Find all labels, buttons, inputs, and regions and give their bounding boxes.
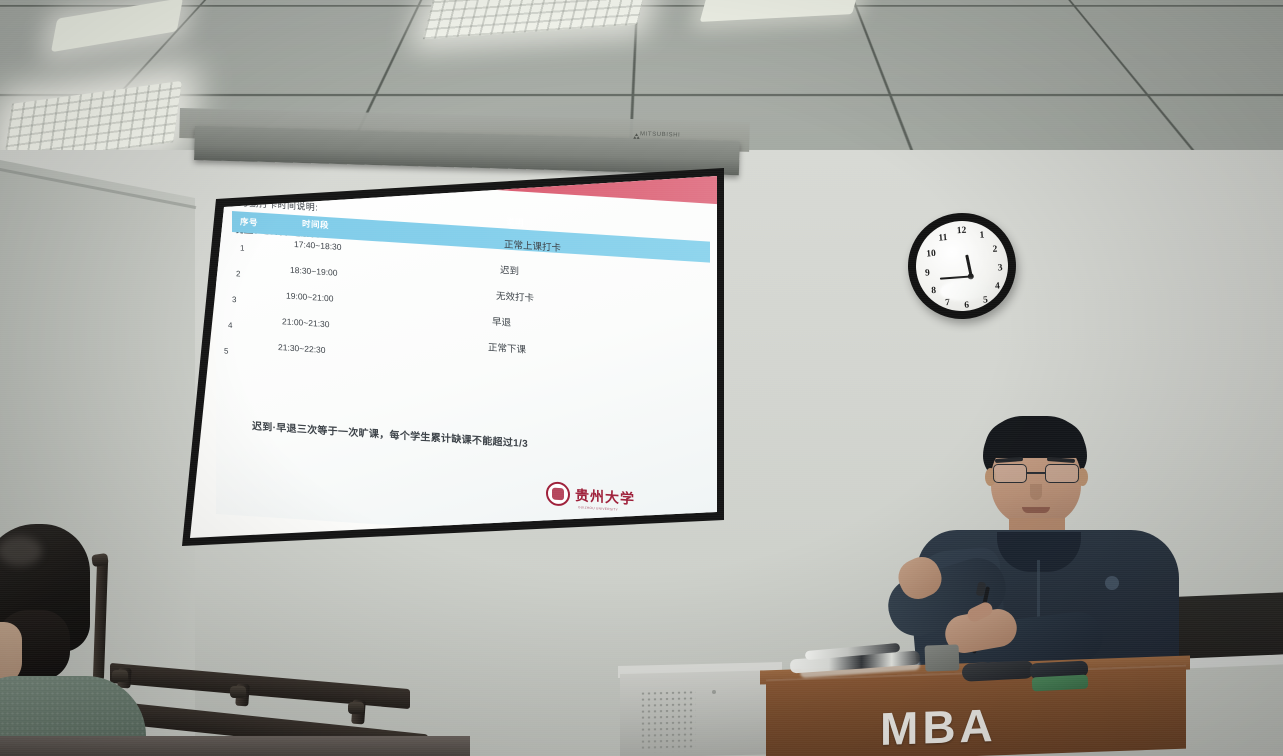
student [0, 524, 167, 756]
clock-numeral: 4 [991, 281, 1004, 292]
presenter-nose [1030, 484, 1042, 500]
projector-brand-label: MITSUBISHI [640, 131, 680, 138]
clock-numeral: 9 [921, 268, 934, 279]
table-row: 3 [232, 295, 236, 304]
table-column-header-no: 序号 [240, 216, 258, 229]
floor [0, 736, 470, 756]
table-row: 2 [236, 269, 240, 278]
grey-block[interactable] [925, 644, 960, 671]
speaker-grill [640, 689, 696, 752]
clock-face: 12 1 2 3 4 5 6 7 8 9 10 11 [913, 218, 1011, 314]
presenter-hair-front [985, 420, 1085, 458]
clock-numeral: 11 [937, 233, 950, 244]
slide-content: MBA 工商管理硕士 考勤打卡时间说明: 晚上：18:30~22:00 序号 时… [216, 168, 724, 546]
table-row: 18:30~19:00 [290, 265, 338, 278]
projection-screen: MBA 工商管理硕士 考勤打卡时间说明: 晚上：18:30~22:00 序号 时… [176, 168, 724, 546]
table-row: 21:00~21:30 [282, 316, 330, 329]
clock-numeral: 2 [989, 244, 1002, 255]
clock-numeral: 3 [994, 263, 1007, 274]
university-seal-icon [546, 481, 570, 507]
table-row: 正常下课 [488, 339, 526, 355]
table-row: 4 [228, 321, 232, 330]
hair-highlight [0, 536, 42, 566]
table-column-header-time: 时间段 [302, 218, 329, 232]
jacket-button [1105, 576, 1119, 590]
table-row: 迟到 [500, 262, 519, 277]
table-row: 早退 [492, 314, 511, 329]
clock-numeral: 8 [927, 286, 940, 297]
slide-body: 考勤打卡时间说明: 晚上：18:30~22:00 序号 时间段 说明 1 17:… [216, 172, 724, 546]
green-eraser[interactable] [1032, 675, 1089, 692]
table-row: 21:30~22:30 [278, 342, 326, 355]
table-row: 1 [240, 244, 244, 253]
presenter-mouth [1022, 507, 1050, 513]
glasses-lens [1045, 464, 1079, 483]
clock-numeral: 10 [925, 249, 938, 260]
glasses-bridge [1027, 472, 1045, 474]
podium-sign-text: MBA [880, 698, 997, 756]
table-row: 正常上课打卡 [504, 236, 561, 254]
presenter-glasses [991, 464, 1083, 484]
table-column-header-desc: 说明 [506, 216, 524, 229]
table-row: 19:00~21:00 [286, 290, 334, 303]
table-row: 5 [224, 347, 228, 356]
table-row: 17:40~18:30 [294, 239, 342, 252]
remote-control[interactable] [962, 660, 1035, 682]
slide-note: 迟到·早退三次等于一次旷课，每个学生累计缺课不能超过1/3 [252, 417, 528, 450]
seat-hinge [230, 686, 246, 698]
slide-surface: MBA 工商管理硕士 考勤打卡时间说明: 晚上：18:30~22:00 序号 时… [176, 168, 724, 546]
seat-hinge [348, 702, 364, 714]
table-row: 无效打卡 [496, 288, 534, 304]
clock-numeral: 6 [960, 300, 973, 311]
clock-numeral: 12 [955, 226, 968, 237]
glasses-lens [993, 464, 1027, 483]
clock-numeral: 1 [976, 230, 989, 241]
classroom-photo-scene: MITSUBISHI MBA 工商管理硕士 考勤打卡时间说明: [0, 0, 1283, 756]
university-logo: 贵州大学 GUIZHOU UNIVERSITY [546, 481, 635, 511]
